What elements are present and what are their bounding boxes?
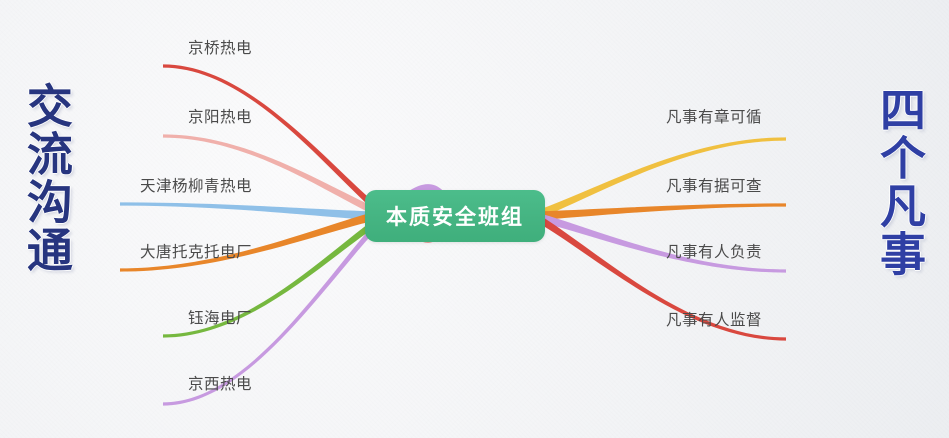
branch-label[interactable]: 京西热电 [0, 372, 252, 394]
center-node[interactable]: 本质安全班组 [365, 190, 545, 242]
branch-label[interactable]: 凡事有章可循 [666, 105, 762, 127]
branch-label[interactable]: 京桥热电 [0, 36, 252, 58]
branch-label[interactable]: 天津杨柳青热电 [0, 174, 252, 196]
branch-label[interactable]: 大唐托克托电厂 [0, 240, 252, 262]
branch-label[interactable]: 凡事有人负责 [666, 240, 762, 262]
side-title-right: 四个凡事 [875, 86, 923, 278]
branch-label[interactable]: 京阳热电 [0, 105, 252, 127]
branch-label[interactable]: 钰海电厂 [0, 306, 252, 328]
center-node-label: 本质安全班组 [386, 201, 524, 231]
branch-label[interactable]: 凡事有据可查 [666, 174, 762, 196]
branch-label[interactable]: 凡事有人监督 [666, 308, 762, 330]
mindmap-canvas: 交流沟通 四个凡事 京桥热电京阳热电天津杨柳青热电大唐托克托电厂钰海电厂京西热电… [0, 0, 949, 438]
